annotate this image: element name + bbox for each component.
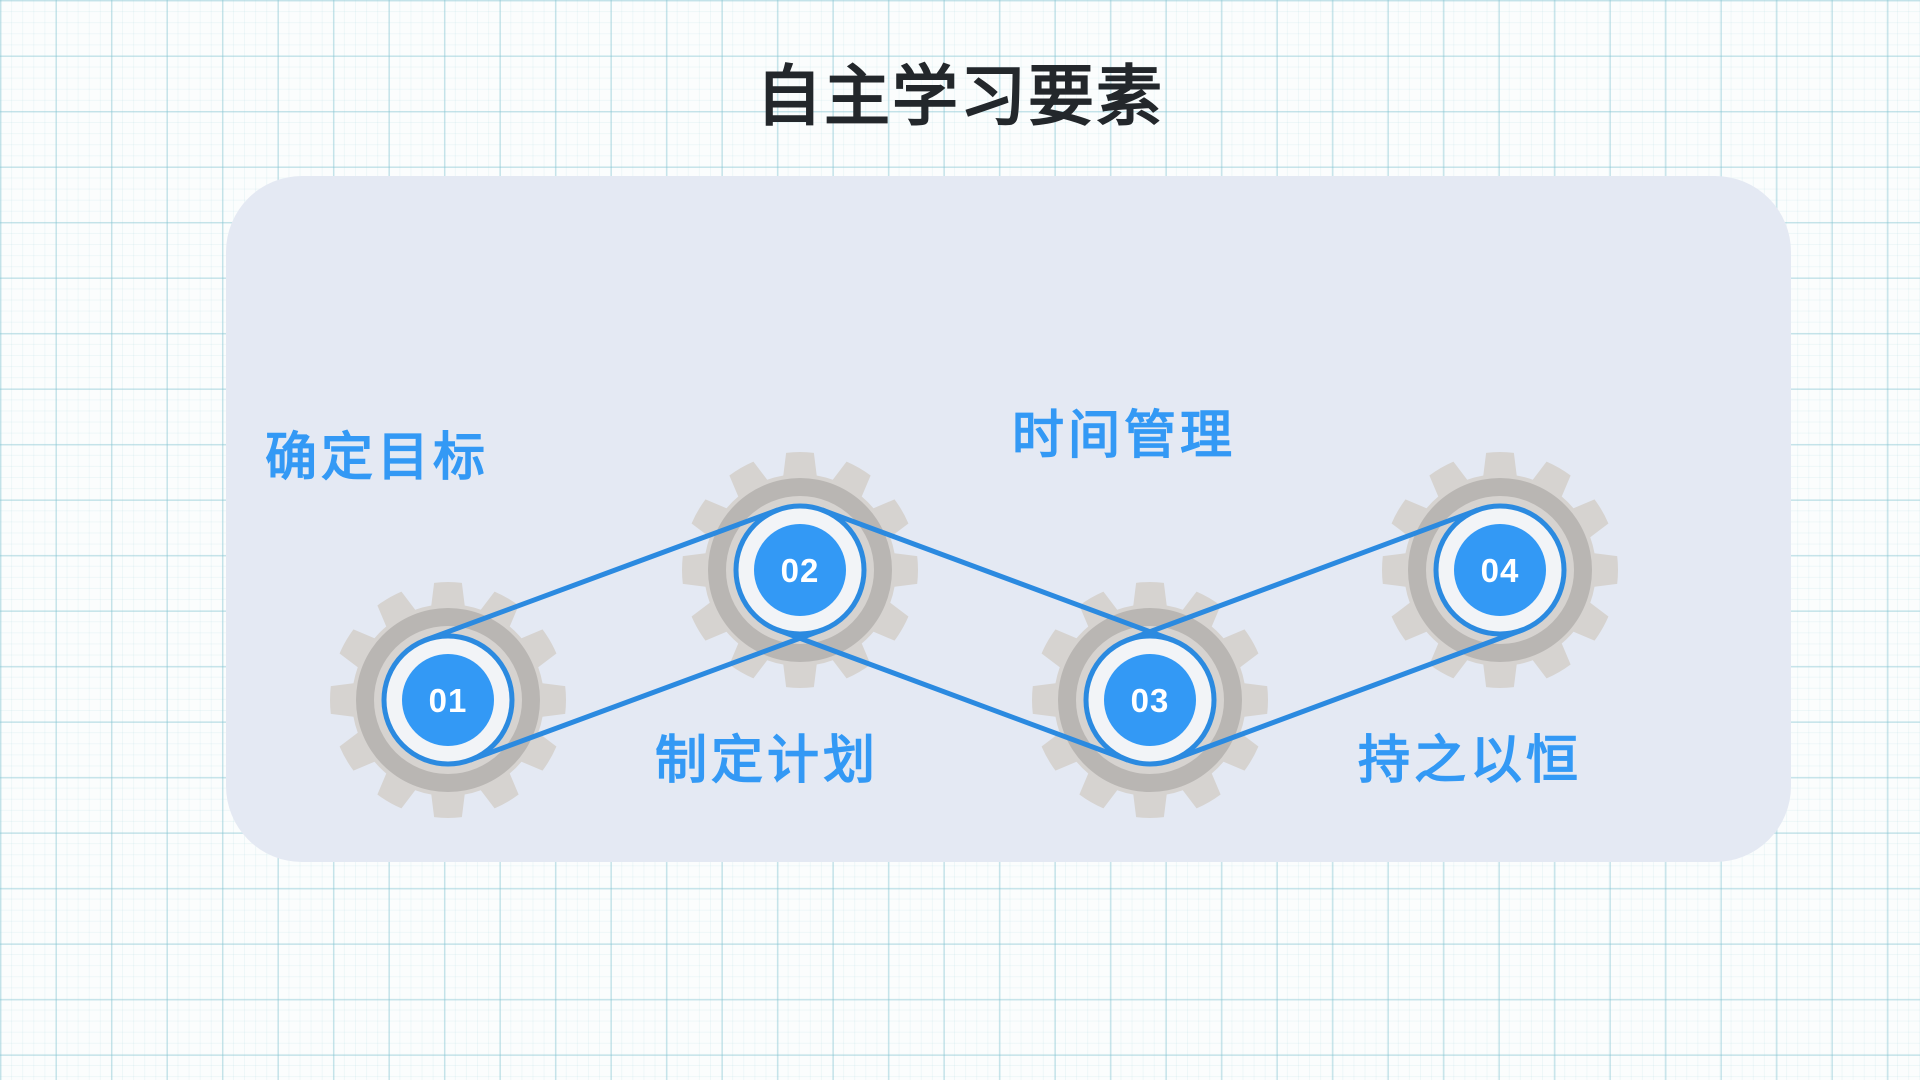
badge-number-text: 02 (781, 552, 820, 589)
step-label-01: 确定目标 (265, 432, 489, 484)
badge-number-text: 03 (1131, 682, 1170, 719)
number-badge-03[interactable]: 03 (1104, 654, 1196, 746)
diagram-canvas: 01020304 (0, 0, 1920, 1080)
badge-number-text: 01 (429, 682, 468, 719)
number-badge-04[interactable]: 04 (1454, 524, 1546, 616)
page-title: 自主学习要素 (0, 62, 1920, 131)
badge-number-text: 04 (1481, 552, 1520, 589)
gear-process-diagram: 01020304 确定目标 制定计划 时间管理 持之以恒 (0, 0, 1920, 1080)
connector-belt-layer (384, 506, 1564, 764)
number-badge-01[interactable]: 01 (402, 654, 494, 746)
number-badges-layer: 01020304 (402, 524, 1546, 746)
step-label-03: 时间管理 (1012, 410, 1236, 462)
number-badge-02[interactable]: 02 (754, 524, 846, 616)
step-label-04: 持之以恒 (1358, 735, 1582, 787)
step-label-02: 制定计划 (655, 735, 879, 787)
